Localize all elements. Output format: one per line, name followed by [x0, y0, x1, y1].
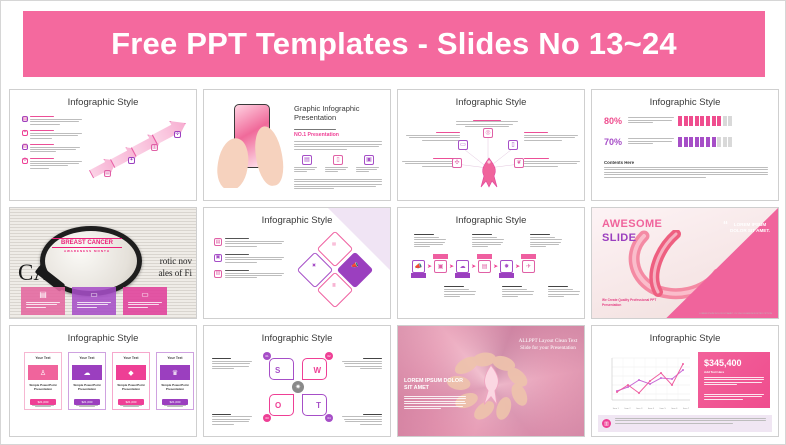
bullet-text	[225, 270, 284, 280]
list-item: ▥	[22, 144, 84, 154]
slide-thumbnail-16[interactable]: Infographic Style 80%	[591, 89, 779, 201]
kpi-body	[704, 377, 764, 387]
card-icon: ▥	[214, 270, 222, 278]
arrow-icon: ➤	[427, 263, 432, 270]
step-4: ▤	[478, 260, 491, 273]
list-item: ✦	[22, 130, 84, 140]
card-label: Your Text	[113, 356, 149, 360]
swot-quadrant-s[interactable]	[269, 358, 294, 380]
step-text-top-3	[530, 234, 566, 249]
card-label: Your Text	[69, 356, 105, 360]
corner-text	[342, 414, 382, 425]
step-text	[502, 286, 538, 297]
step-text	[548, 286, 584, 297]
line-chart: Item 1 Item 2 Item 3 Item 4 Item 5 Item …	[604, 354, 692, 406]
step-text	[414, 234, 450, 247]
list-item: ▤	[22, 116, 84, 126]
slide-thumbnail-19[interactable]: Infographic Style 📣 ➤	[397, 207, 585, 319]
contents-block: Contents Here	[604, 160, 768, 179]
step-text-top-1	[414, 234, 450, 249]
stat-row-80: 80%	[604, 116, 769, 126]
card-3[interactable]: ▭	[123, 287, 167, 315]
pricing-card-2[interactable]: Your Text ☁ Simple PowerPoint Presentati…	[68, 352, 106, 410]
step-text-bottom-2	[502, 286, 538, 298]
slide-thumbnail-15[interactable]: Infographic Style	[397, 89, 585, 201]
globe-icon: ✷	[292, 381, 304, 393]
body-left	[404, 396, 466, 410]
awesome-title-line1: AWESOME	[602, 218, 662, 230]
slide-16-title: Infographic Style	[592, 97, 778, 108]
person-icon	[689, 116, 693, 126]
document-icon: ▤	[22, 116, 28, 122]
network-icon: ✣	[452, 158, 462, 168]
x-tick: Item 4	[648, 408, 654, 410]
swot-badge-01: 01	[263, 352, 271, 360]
card-body	[128, 302, 162, 308]
list-item: ▣	[214, 254, 284, 264]
photo-caption-sub: AWARENESS MONTH	[52, 249, 122, 253]
feature-caption	[294, 167, 320, 173]
quote-text: LOREM IPSUM DOLOR SIT AMET.	[726, 222, 774, 234]
swot-letter-o: O	[275, 401, 281, 410]
ribbon-icon: ❦	[514, 158, 524, 168]
crown-icon: ♛	[160, 365, 190, 380]
diamond-1-content: ▤	[324, 241, 344, 246]
feature-caption	[325, 167, 351, 173]
step-4-tag	[477, 254, 492, 259]
slide-thumbnail-grid: Infographic Style ▤ ✦	[9, 89, 779, 437]
monitor-icon: ▭	[458, 140, 468, 150]
card-button[interactable]: $21,000	[30, 399, 56, 405]
swot-quadrant-t[interactable]	[302, 394, 327, 416]
person-icon-empty	[717, 137, 721, 147]
slide-19-title: Infographic Style	[398, 215, 584, 226]
card-body	[26, 302, 60, 308]
swot-badge-04: 04	[325, 414, 333, 422]
step-5: ✸	[500, 260, 513, 273]
step-text-bottom-1	[444, 286, 480, 298]
card-button[interactable]: $21,000	[118, 399, 144, 405]
feature-icon-row: ▤ ▯ ▣	[294, 155, 382, 174]
settings-icon: ✦	[128, 157, 135, 164]
person-icon	[700, 116, 704, 126]
contents-body	[604, 167, 768, 178]
pricing-card-3[interactable]: Your Text ◆ Simple PowerPoint Presentati…	[112, 352, 150, 410]
feature-2: ▯	[325, 155, 351, 174]
slide-13-title: Infographic Style	[10, 97, 196, 108]
pricing-card-1[interactable]: Your Text ♙ Simple PowerPoint Presentati…	[24, 352, 62, 410]
slide-23-canvas: ALLPPT Layout Clean Text Slide for your …	[398, 326, 584, 436]
x-tick: Item 1	[613, 408, 619, 410]
cloud-icon: ☁	[456, 260, 469, 273]
swot-corner-text-2	[342, 358, 382, 370]
slide-17-canvas: CANCER? rotic nov ales of Fi BREAST CANC…	[10, 208, 196, 318]
people-row-70	[678, 137, 734, 147]
person-icon-empty	[723, 116, 727, 126]
swot-letter-s: S	[275, 366, 280, 375]
swot-corner-text-1	[212, 358, 252, 370]
slide-14-title: Graphic Infographic Presentation	[294, 104, 382, 122]
slide-14-text-block: Graphic Infographic Presentation NO.1 Pr…	[294, 104, 382, 191]
person-icon	[717, 116, 721, 126]
bullet-text	[30, 130, 84, 140]
person-icon	[678, 116, 682, 126]
briefcase-icon: ▤	[478, 260, 491, 273]
swot-badge-02: 02	[325, 352, 333, 360]
slide-19-canvas: Infographic Style 📣 ➤	[398, 208, 584, 318]
process-chain: 📣 ➤ ▣ ➤ ☁ ➤ ▤	[412, 260, 535, 273]
step-2-tag	[433, 254, 448, 259]
slide-16-canvas: Infographic Style 80%	[592, 90, 778, 200]
kpi-panel: $345,400 Add Text Here	[698, 352, 770, 408]
slide-thumbnail-13[interactable]: Infographic Style ▤ ✦	[9, 89, 197, 201]
kpi-value: $345,400	[704, 358, 742, 368]
chart-icon: ▥	[602, 419, 611, 428]
awesome-title-line2: SLIDE	[602, 232, 636, 244]
headline-left: LOREM IPSUM DOLOR SIT AMET	[404, 378, 466, 392]
slide-14-body	[294, 141, 382, 149]
person-icon	[706, 116, 710, 126]
step-6: ✈	[522, 260, 535, 273]
person-icon	[695, 137, 699, 147]
bag-icon: ▣	[364, 155, 374, 165]
diamond-cluster: ▤ ▣ ▥ 📣	[300, 236, 380, 302]
cloud-icon: ☁	[72, 365, 102, 380]
pink-ribbon-icon	[478, 156, 500, 188]
feature-3: ▣	[356, 155, 382, 174]
slide-thumbnail-22[interactable]: Infographic Style S	[203, 325, 391, 437]
swot-letter-w: W	[313, 366, 321, 375]
pricing-card-4[interactable]: Your Text ♛ Simple PowerPoint Presentati…	[156, 352, 194, 410]
stat-row-70: 70%	[604, 137, 769, 147]
person-icon-empty	[728, 116, 732, 126]
book-icon: ▤	[21, 290, 65, 299]
card-button[interactable]: $21,000	[162, 399, 188, 405]
x-tick: Item 5	[660, 408, 666, 410]
phone-icon: ▯	[508, 140, 518, 150]
poster-page: Free PPT Templates - Slides No 13~24 Inf…	[0, 0, 786, 445]
card-1[interactable]: ▤	[21, 287, 65, 315]
x-tick: Item 7	[683, 408, 689, 410]
person-icon	[689, 137, 693, 147]
slide-14-footer-body	[294, 179, 382, 190]
card-heading: Simple PowerPoint Presentation	[117, 383, 145, 391]
slide-21-title: Infographic Style	[10, 333, 196, 344]
bullet-text	[225, 254, 284, 264]
step-text	[472, 234, 508, 247]
diamond-icon: ◆	[116, 365, 146, 380]
card-button[interactable]: $21,000	[74, 399, 100, 405]
swot-diagram: S W O T ✷ 01 02 03 04	[267, 356, 329, 418]
chart-icon: ▥	[22, 144, 28, 150]
corner-text	[212, 358, 252, 369]
corner-text	[342, 358, 382, 369]
cup-icon: ♙	[28, 365, 58, 380]
card-icon: ▤	[302, 155, 312, 165]
slide-thumbnail-18[interactable]: Infographic Style ▤ ▣ ▥	[203, 207, 391, 319]
rocket-icon: ✈	[522, 260, 535, 273]
eyebrow-line	[294, 129, 382, 130]
card-2[interactable]: ▭	[72, 287, 116, 315]
person-icon-empty	[728, 137, 732, 147]
stat-body	[628, 138, 674, 145]
newsprint-text-2: ales of Fi	[159, 268, 193, 278]
feature-caption	[356, 167, 382, 173]
card-heading: Simple PowerPoint Presentation	[73, 383, 101, 391]
document-icon: ▤	[104, 170, 111, 177]
slide-thumbnail-23[interactable]: ALLPPT Layout Clean Text Slide for your …	[397, 325, 585, 437]
bullet-text	[30, 158, 84, 170]
arrow-icon: ➤	[471, 263, 476, 270]
arrow-icon: ➤	[515, 263, 520, 270]
network-icon: ✣	[174, 131, 181, 138]
stat-body	[628, 117, 674, 124]
megaphone-icon: 📣	[412, 260, 425, 273]
contents-heading: Contents Here	[604, 160, 768, 165]
network-icon: ✣	[22, 158, 28, 164]
arrow-icon: ➤	[449, 263, 454, 270]
chat-icon: ▣	[214, 254, 222, 262]
line-chart-svg	[604, 354, 692, 406]
slide-thumbnail-14[interactable]: Graphic Infographic Presentation NO.1 Pr…	[203, 89, 391, 201]
person-icon	[684, 116, 688, 126]
card-label: Your Text	[25, 356, 61, 360]
feature-1: ▤	[294, 155, 320, 174]
footer-bar: ▥	[598, 415, 772, 432]
x-tick: Item 6	[671, 408, 677, 410]
step-text-top-2	[472, 234, 508, 249]
step-1: 📣	[412, 260, 425, 273]
x-tick: Item 3	[636, 408, 642, 410]
header-banner: Free PPT Templates - Slides No 13~24	[23, 11, 765, 77]
newsprint-text-1: rotic nov	[160, 256, 192, 266]
slide-18-canvas: Infographic Style ▤ ▣ ▥	[204, 208, 390, 318]
photo-caption-main: BREAST CANCER	[52, 238, 122, 248]
slide-22-title: Infographic Style	[204, 333, 390, 344]
kpi-body-2	[704, 394, 764, 401]
arrow-icon: ➤	[493, 263, 498, 270]
laptop-icon: ▭	[72, 290, 116, 299]
diamond-2-content: ▣	[304, 262, 324, 267]
hand-right	[251, 124, 287, 188]
step-3: ☁	[456, 260, 469, 273]
phone-illustration	[212, 96, 290, 188]
swot-quadrant-o[interactable]	[269, 394, 294, 416]
slide-20-canvas: AWESOME SLIDE LOREM IPSUM DOLOR SIT AMET…	[592, 208, 778, 318]
swot-badge-03: 03	[263, 414, 271, 422]
step-3-tag	[455, 273, 470, 278]
person-icon	[706, 137, 710, 147]
x-axis-tick-labels: Item 1 Item 2 Item 3 Item 4 Item 5 Item …	[610, 408, 692, 410]
card-heading: Simple PowerPoint Presentation	[161, 383, 189, 391]
stat-value: 70%	[604, 137, 624, 147]
swot-corner-text-3	[212, 414, 252, 426]
awesome-caption: We Create Quality Professional PPT Prese…	[602, 298, 672, 307]
monitor-icon: ▭	[123, 290, 167, 299]
slide-13-bullet-list: ▤ ✦ ▥	[22, 116, 84, 170]
slide-thumbnail-24[interactable]: Infographic Style	[591, 325, 779, 437]
diamond-3-content: ▥	[324, 282, 344, 287]
x-tick: Item 2	[625, 408, 631, 410]
slide-thumbnail-17[interactable]: CANCER? rotic nov ales of Fi BREAST CANC…	[9, 207, 197, 319]
slide-21-canvas: Infographic Style Your Text ♙ Simple Pow…	[10, 326, 196, 436]
slide-15-canvas: Infographic Style	[398, 90, 584, 200]
step-1-tag	[411, 273, 426, 278]
slide-18-bullet-list: ▤ ▣ ▥	[214, 238, 284, 280]
book-icon: ▤	[214, 238, 222, 246]
slide-24-title: Infographic Style	[592, 333, 778, 344]
settings-icon: ✦	[22, 130, 28, 136]
arrow-chain: ▤ ✦ ▥ ✣	[88, 116, 188, 178]
person-icon	[712, 137, 716, 147]
corner-text	[212, 414, 252, 425]
step-6-tag	[521, 254, 536, 259]
person-icon	[678, 137, 682, 147]
swot-letter-t: T	[316, 401, 321, 410]
slide-24-canvas: Infographic Style	[592, 326, 778, 436]
slide-14-canvas: Graphic Infographic Presentation NO.1 Pr…	[204, 90, 390, 200]
awesome-footer: LOREM IPSUM DOLOR SIT AMET, CU USU LEGIM…	[699, 313, 772, 315]
list-item: ▥	[214, 270, 284, 280]
kpi-label: Add Text Here	[704, 370, 724, 374]
person-icon	[700, 137, 704, 147]
card-label: Your Text	[157, 356, 193, 360]
stat-value: 80%	[604, 116, 624, 126]
person-icon-empty	[723, 137, 727, 147]
step-text	[530, 234, 566, 247]
step-text-bottom-3	[548, 286, 584, 298]
mobile-icon: ▯	[333, 155, 343, 165]
swot-corner-text-4	[342, 414, 382, 426]
slide-13-canvas: Infographic Style ▤ ✦	[10, 90, 196, 200]
bullet-text	[225, 238, 284, 248]
slide-22-canvas: Infographic Style S	[204, 326, 390, 436]
footer-body	[615, 418, 766, 424]
card-heading: Simple PowerPoint Presentation	[29, 383, 57, 391]
person-icon	[684, 137, 688, 147]
person-icon	[695, 116, 699, 126]
slide-18-title: Infographic Style	[204, 215, 390, 226]
step-2: ▣	[434, 260, 447, 273]
slide-14-subtitle: NO.1 Presentation	[294, 132, 382, 138]
list-item: ✣	[22, 158, 84, 170]
headline-right: ALLPPT Layout Clean Text Slide for your …	[518, 338, 578, 352]
megaphone-icon: 📣	[344, 262, 366, 269]
medal-icon: ◎	[483, 128, 493, 138]
list-item: ▤	[214, 238, 284, 248]
slide-thumbnail-20[interactable]: AWESOME SLIDE LOREM IPSUM DOLOR SIT AMET…	[591, 207, 779, 319]
step-5-tag	[499, 273, 514, 278]
bullet-text	[30, 116, 84, 126]
people-row-80	[678, 116, 734, 126]
person-icon	[712, 116, 716, 126]
bullet-text	[30, 144, 84, 154]
page-title: Free PPT Templates - Slides No 13~24	[111, 26, 677, 62]
chart-icon: ▥	[151, 144, 158, 151]
gear-icon: ✸	[500, 260, 513, 273]
slide-thumbnail-21[interactable]: Infographic Style Your Text ♙ Simple Pow…	[9, 325, 197, 437]
step-text	[444, 286, 480, 297]
quote-mark-icon: “	[723, 222, 728, 230]
camera-icon: ▣	[434, 260, 447, 273]
card-body	[77, 302, 111, 308]
